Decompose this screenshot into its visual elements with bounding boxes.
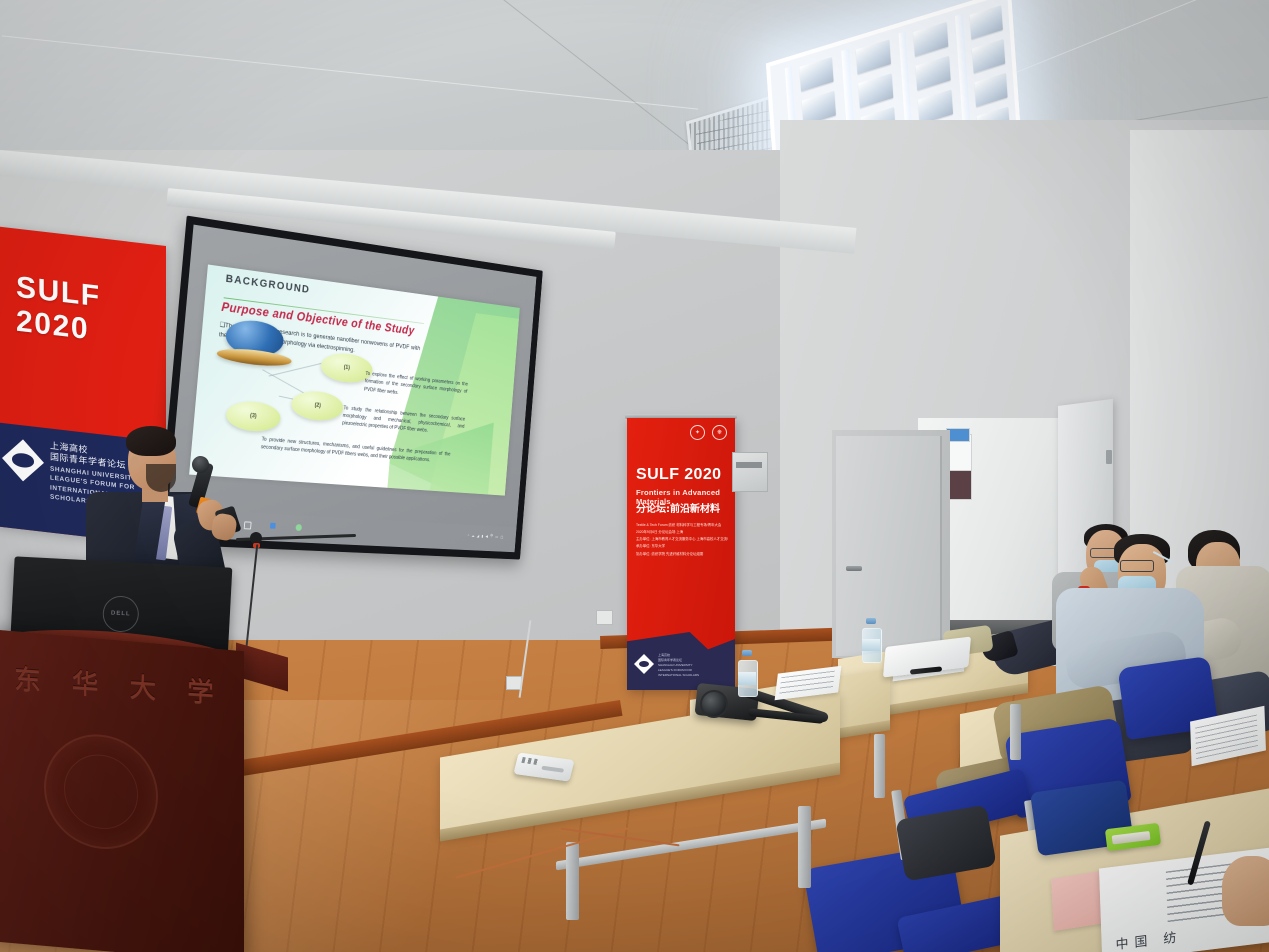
rollup-banner: ✦ ❋ SULF 2020 Frontiers in Advanced Mate… — [627, 418, 735, 690]
table-leg — [1010, 704, 1021, 760]
dell-logo-icon: DELL — [102, 595, 140, 633]
clock-icon[interactable]: ▭ — [495, 534, 498, 539]
wall-outlet — [596, 610, 613, 625]
university-seal-icon — [44, 730, 158, 854]
rollup-emblems: ✦ ❋ — [690, 425, 727, 440]
wall-banner-title: SULF 2020 — [16, 271, 166, 356]
rollup-meta: Textile & Tech Forum 纺织 材料科学与工程专场/青年大会 2… — [636, 522, 728, 558]
onedrive-icon[interactable]: ☁ — [471, 533, 474, 538]
notifications-icon[interactable]: ▢ — [500, 534, 503, 539]
slide-node-3: (3) — [225, 399, 282, 433]
organizer-seal-icon: ❋ — [712, 425, 727, 440]
file-explorer-icon[interactable] — [270, 522, 276, 528]
speaker-ear — [130, 456, 140, 469]
table-leg — [798, 806, 811, 888]
slide-node-2: (2) — [290, 389, 344, 422]
ime-icon[interactable]: 中 — [490, 533, 493, 539]
camera-lens-icon — [700, 690, 728, 718]
task-view-icon[interactable] — [244, 521, 252, 529]
document-title-cn: 中国 纺 — [1115, 926, 1182, 952]
door-hinge — [1106, 450, 1112, 464]
wall-cabinet-slot — [736, 462, 762, 468]
university-crest-icon: ✦ — [690, 425, 705, 440]
lectern: 东 华 大 学 — [0, 629, 244, 952]
water-bottle-icon — [738, 650, 756, 698]
volume-icon[interactable]: ◀ — [485, 534, 488, 539]
attendee-2-glasses — [1120, 560, 1154, 572]
screen-surface: BACKGROUND Purpose and Objective of the … — [165, 225, 536, 553]
slide-header: BACKGROUND — [225, 273, 310, 296]
door-handle-icon[interactable] — [846, 566, 862, 571]
wall-cabinet — [732, 452, 768, 492]
sulf-logo-icon — [634, 654, 654, 674]
chevron-up-icon[interactable]: ^ — [468, 533, 470, 538]
door-closed[interactable] — [836, 436, 942, 656]
app-green-icon[interactable] — [295, 524, 302, 531]
speaker-beard — [146, 464, 176, 492]
rollup-footer-text: 上海高校 国际青年学者论坛 SHANGHAI UNIVERSITY LEAGUE… — [658, 653, 699, 678]
system-tray[interactable]: ^ ☁ ◢ ▮ ◀ 中 ▭ ▢ — [468, 532, 504, 539]
rollup-title: SULF 2020 — [636, 466, 721, 484]
battery-icon[interactable]: ▮ — [481, 533, 483, 538]
presentation-slide: BACKGROUND Purpose and Objective of the … — [189, 264, 520, 496]
speaker-hair — [126, 426, 176, 456]
network-icon[interactable]: ◢ — [477, 533, 480, 538]
table-leg — [874, 734, 885, 798]
sulf-logo-icon — [2, 437, 44, 484]
table-leg — [566, 842, 579, 920]
attendee-hand — [1222, 856, 1269, 926]
gold-disc-icon — [217, 346, 293, 369]
university-name-cn: 东 华 大 学 — [14, 657, 214, 710]
rollup-subtitle-cn: 分论坛:前沿新材料 — [636, 500, 720, 515]
conference-room-photo: SULF 2020 上海高校 国际青年学者论坛 SHANGHAI UNIVERS… — [0, 0, 1269, 952]
water-bottle-icon — [862, 618, 880, 664]
